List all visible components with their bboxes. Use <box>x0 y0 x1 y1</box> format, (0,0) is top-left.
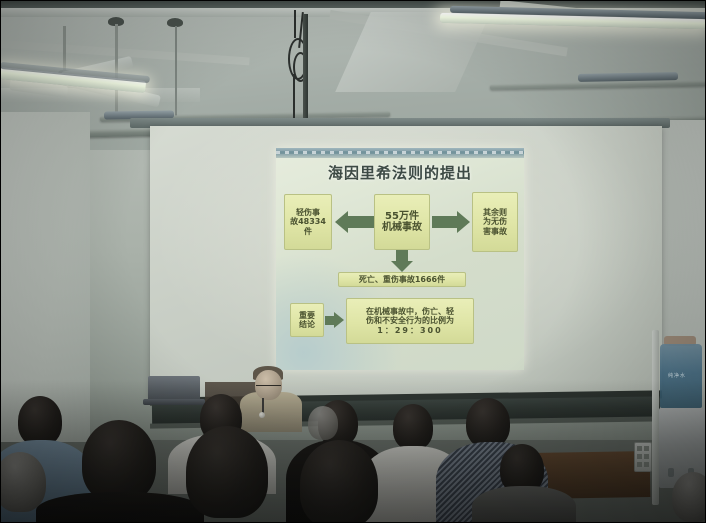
conclusion-line3: 1：29：300 <box>377 326 442 335</box>
water-bottle-label: 纯净水 <box>668 372 686 379</box>
projected-slide: 海因里希法则的提出 轻伤事 故48334 件 55万件 机械事故 其余则 为无伤… <box>276 148 524 370</box>
slide-box-no-injury: 其余则 为无伤 害事故 <box>472 192 518 252</box>
no-injury-line3: 害事故 <box>483 227 507 236</box>
audience-head-b1 <box>18 396 62 446</box>
audience-head-f4-grey <box>0 452 46 512</box>
minor-injuries-line2: 故48334 <box>290 217 326 226</box>
audience-shoulders-f5 <box>472 486 576 523</box>
front-wall-left-return <box>0 112 90 442</box>
slide-box-conclusion-text: 在机械事故中，伤亡、轻 伤和不安全行为的比例为 1：29：300 <box>346 298 474 344</box>
total-accidents-line2: 机械事故 <box>382 222 422 234</box>
audience-head-b6 <box>466 398 510 448</box>
slide-top-decoration <box>276 148 524 158</box>
switch-rocker-2[interactable] <box>644 446 649 451</box>
audience-head-b5 <box>393 404 433 450</box>
laptop-screen <box>148 376 200 400</box>
speaker-glasses <box>256 381 281 386</box>
slide-arrow-left-shaft <box>348 216 376 228</box>
classroom-photo: 海因里希法则的提出 轻伤事 故48334 件 55万件 机械事故 其余则 为无伤… <box>0 0 706 523</box>
switch-rocker-3[interactable] <box>637 454 642 459</box>
fatal-serious-text: 死亡、重伤事故1666件 <box>359 275 445 284</box>
projector-cable-drop <box>293 74 295 118</box>
ceiling-drop-cable-b <box>175 26 177 116</box>
conclusion-label-line1: 重要 <box>299 311 315 320</box>
audience-head-f2 <box>186 426 268 518</box>
conclusion-label-line2: 结论 <box>299 320 315 329</box>
switch-rocker-5[interactable] <box>637 462 642 467</box>
slide-box-conclusion-label: 重要 结论 <box>290 303 324 337</box>
ceiling-drop-rod-a <box>115 24 118 116</box>
slide-box-minor-injuries: 轻伤事 故48334 件 <box>284 194 332 250</box>
switch-rocker-1[interactable] <box>637 446 642 451</box>
slide-arrow-left-head <box>335 211 348 233</box>
slide-arrow-conclusion-head <box>334 312 344 328</box>
slide-arrow-down-head <box>391 261 413 272</box>
audience-head-f1 <box>82 420 156 502</box>
total-accidents-line1: 55万件 <box>385 211 419 223</box>
switch-rocker-6[interactable] <box>644 462 649 467</box>
no-injury-line2: 为无伤 <box>483 217 507 226</box>
slide-box-fatal-serious: 死亡、重伤事故1666件 <box>338 272 466 287</box>
projector-cable-main <box>294 10 296 38</box>
audience-head-f3 <box>300 440 378 523</box>
ceiling-fan-rod <box>63 26 66 72</box>
audience-shoulders-f1 <box>36 492 204 523</box>
switch-rocker-4[interactable] <box>644 454 649 459</box>
slide-arrow-right-head <box>457 211 470 233</box>
projector-mount-pole <box>303 14 308 126</box>
wall-conduit-pipe <box>652 330 659 505</box>
audience-head-f6-grey <box>672 472 706 522</box>
slide-box-total-accidents: 55万件 机械事故 <box>374 194 430 250</box>
light-switch-panel[interactable] <box>634 442 652 472</box>
slide-arrow-right-shaft <box>432 216 458 228</box>
slide-title: 海因里希法则的提出 <box>276 162 524 183</box>
microphone-head <box>259 412 265 418</box>
water-dispenser-tap-hot[interactable] <box>668 468 674 477</box>
conclusion-line2: 伤和不安全行为的比例为 <box>366 316 454 325</box>
audience-head-b4-grey <box>308 406 338 440</box>
laptop-keyboard <box>143 399 205 405</box>
minor-injuries-line3: 件 <box>304 227 312 236</box>
